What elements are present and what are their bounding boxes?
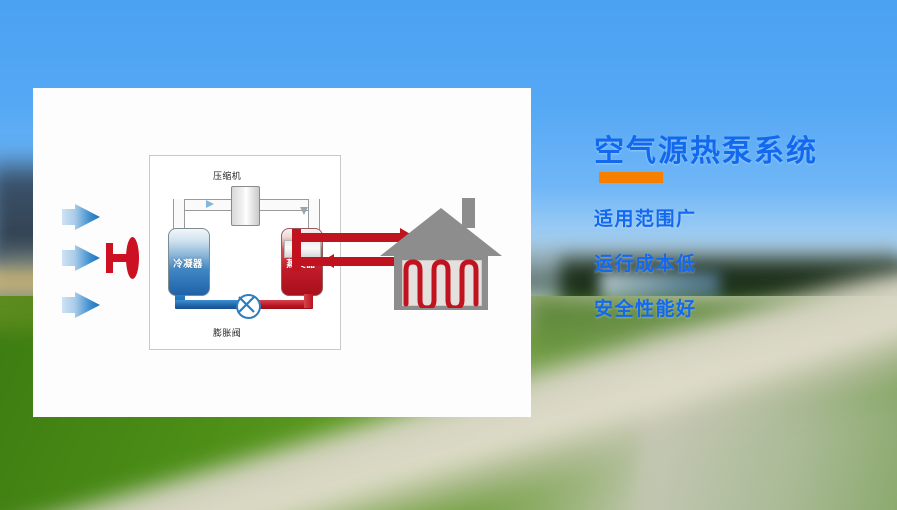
feature-list: 适用范围广 运行成本低 安全性能好 xyxy=(594,204,697,339)
liquid-line-rise xyxy=(304,294,313,308)
flow-arrow-icon xyxy=(322,254,334,268)
flow-arrow-icon xyxy=(300,207,308,215)
compressor-body xyxy=(231,186,260,226)
airflow-arrow-icon xyxy=(62,204,100,230)
airflow-arrow-icon xyxy=(62,292,100,318)
compressor-label: 压缩机 xyxy=(213,169,241,182)
roof-icon xyxy=(380,208,502,256)
flow-arrow-icon xyxy=(206,200,214,208)
airflow-arrow-icon xyxy=(62,245,100,271)
slide-root: 压缩机 冷凝器 蒸发器 膨胀阀 空气源热泵系统 适用范围广 运行成本低 安全性能… xyxy=(0,0,897,510)
list-item: 适用范围广 xyxy=(594,204,697,231)
underfloor-heating-coil-icon xyxy=(400,258,482,308)
condenser-label: 冷凝器 xyxy=(168,256,208,270)
house-icon xyxy=(380,198,502,310)
expansion-valve-label: 膨胀阀 xyxy=(213,326,241,339)
title-underline-rule xyxy=(599,172,663,183)
page-title: 空气源热泵系统 xyxy=(594,126,818,170)
list-item: 运行成本低 xyxy=(594,249,697,276)
list-item: 安全性能好 xyxy=(594,294,697,321)
liquid-line-cold xyxy=(175,300,239,309)
expansion-valve-icon xyxy=(236,294,261,319)
fan-icon xyxy=(106,237,140,279)
